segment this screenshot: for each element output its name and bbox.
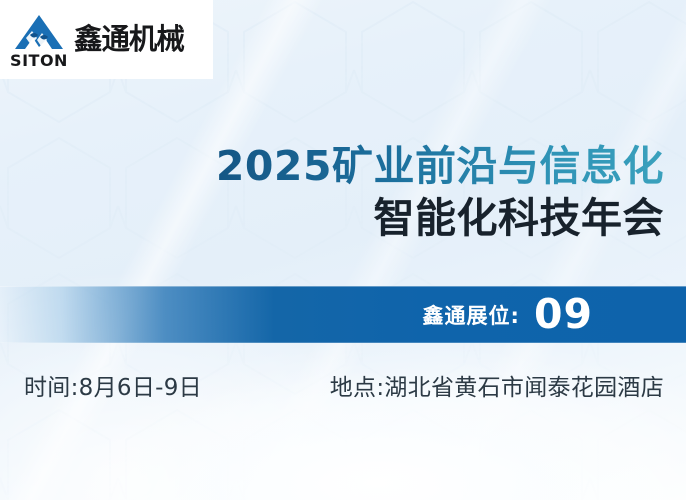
- siton-latin-text: SITON: [10, 51, 68, 69]
- event-venue: 地点:湖北省黄石市闻泰花园酒店: [330, 368, 664, 402]
- booth-banner: 鑫通展位: 09: [0, 286, 686, 343]
- siton-mountain-logo-icon: SITON: [6, 11, 72, 69]
- booth-label: 鑫通展位:: [423, 300, 520, 330]
- headline-line-2: 智能化科技年会: [0, 194, 664, 242]
- headline-line-1: 2025矿业前沿与信息化: [0, 142, 664, 190]
- brand-logo: SITON 鑫通机械: [0, 0, 213, 79]
- conference-poster: SITON 鑫通机械 2025矿业前沿与信息化 智能化科技年会 鑫通展位: 09…: [0, 0, 686, 500]
- poster-headline: 2025矿业前沿与信息化 智能化科技年会: [0, 142, 664, 243]
- event-date: 时间:8月6日-9日: [24, 368, 202, 402]
- booth-number: 09: [534, 294, 593, 335]
- brand-chinese-name: 鑫通机械: [74, 25, 184, 54]
- event-details: 时间:8月6日-9日 地点:湖北省黄石市闻泰花园酒店: [24, 368, 664, 402]
